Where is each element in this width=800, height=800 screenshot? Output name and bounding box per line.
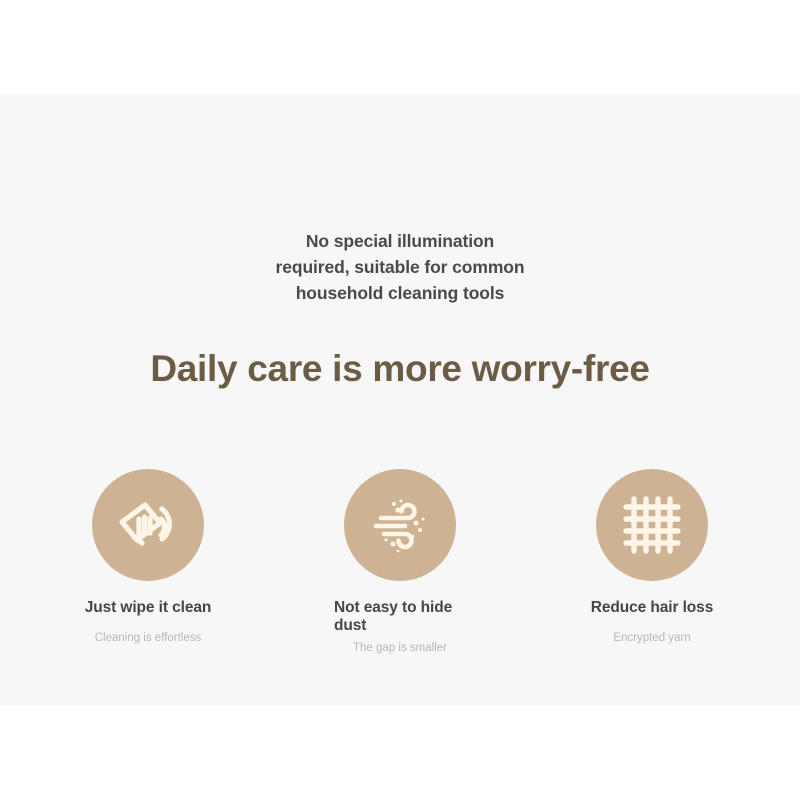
feature-label: Reduce hair loss bbox=[591, 599, 713, 617]
intro-line-3: household cleaning tools bbox=[0, 280, 800, 306]
feature-row: Just wipe it clean Cleaning is effortles… bbox=[0, 469, 800, 656]
intro-line-1: No special illumination bbox=[0, 228, 800, 254]
wipe-cloth-icon bbox=[92, 469, 204, 581]
feature-label: Not easy to hide dust bbox=[334, 599, 466, 635]
page-title: Daily care is more worry-free bbox=[0, 348, 800, 390]
intro-line-2: required, suitable for common bbox=[0, 254, 800, 280]
wind-dust-icon bbox=[344, 469, 456, 581]
promo-panel: No special illumination required, suitab… bbox=[0, 94, 800, 705]
feature-item-mesh: Reduce hair loss Encrypted yarn bbox=[526, 469, 778, 656]
feature-item-dust: Not easy to hide dust The gap is smaller bbox=[274, 469, 526, 656]
feature-item-wipe: Just wipe it clean Cleaning is effortles… bbox=[22, 469, 274, 656]
feature-subtitle: The gap is smaller bbox=[353, 641, 447, 656]
intro-paragraph: No special illumination required, suitab… bbox=[0, 228, 800, 306]
feature-label: Just wipe it clean bbox=[85, 599, 212, 617]
feature-subtitle: Encrypted yarn bbox=[613, 631, 690, 646]
woven-mesh-icon bbox=[596, 469, 708, 581]
feature-subtitle: Cleaning is effortless bbox=[95, 631, 202, 646]
